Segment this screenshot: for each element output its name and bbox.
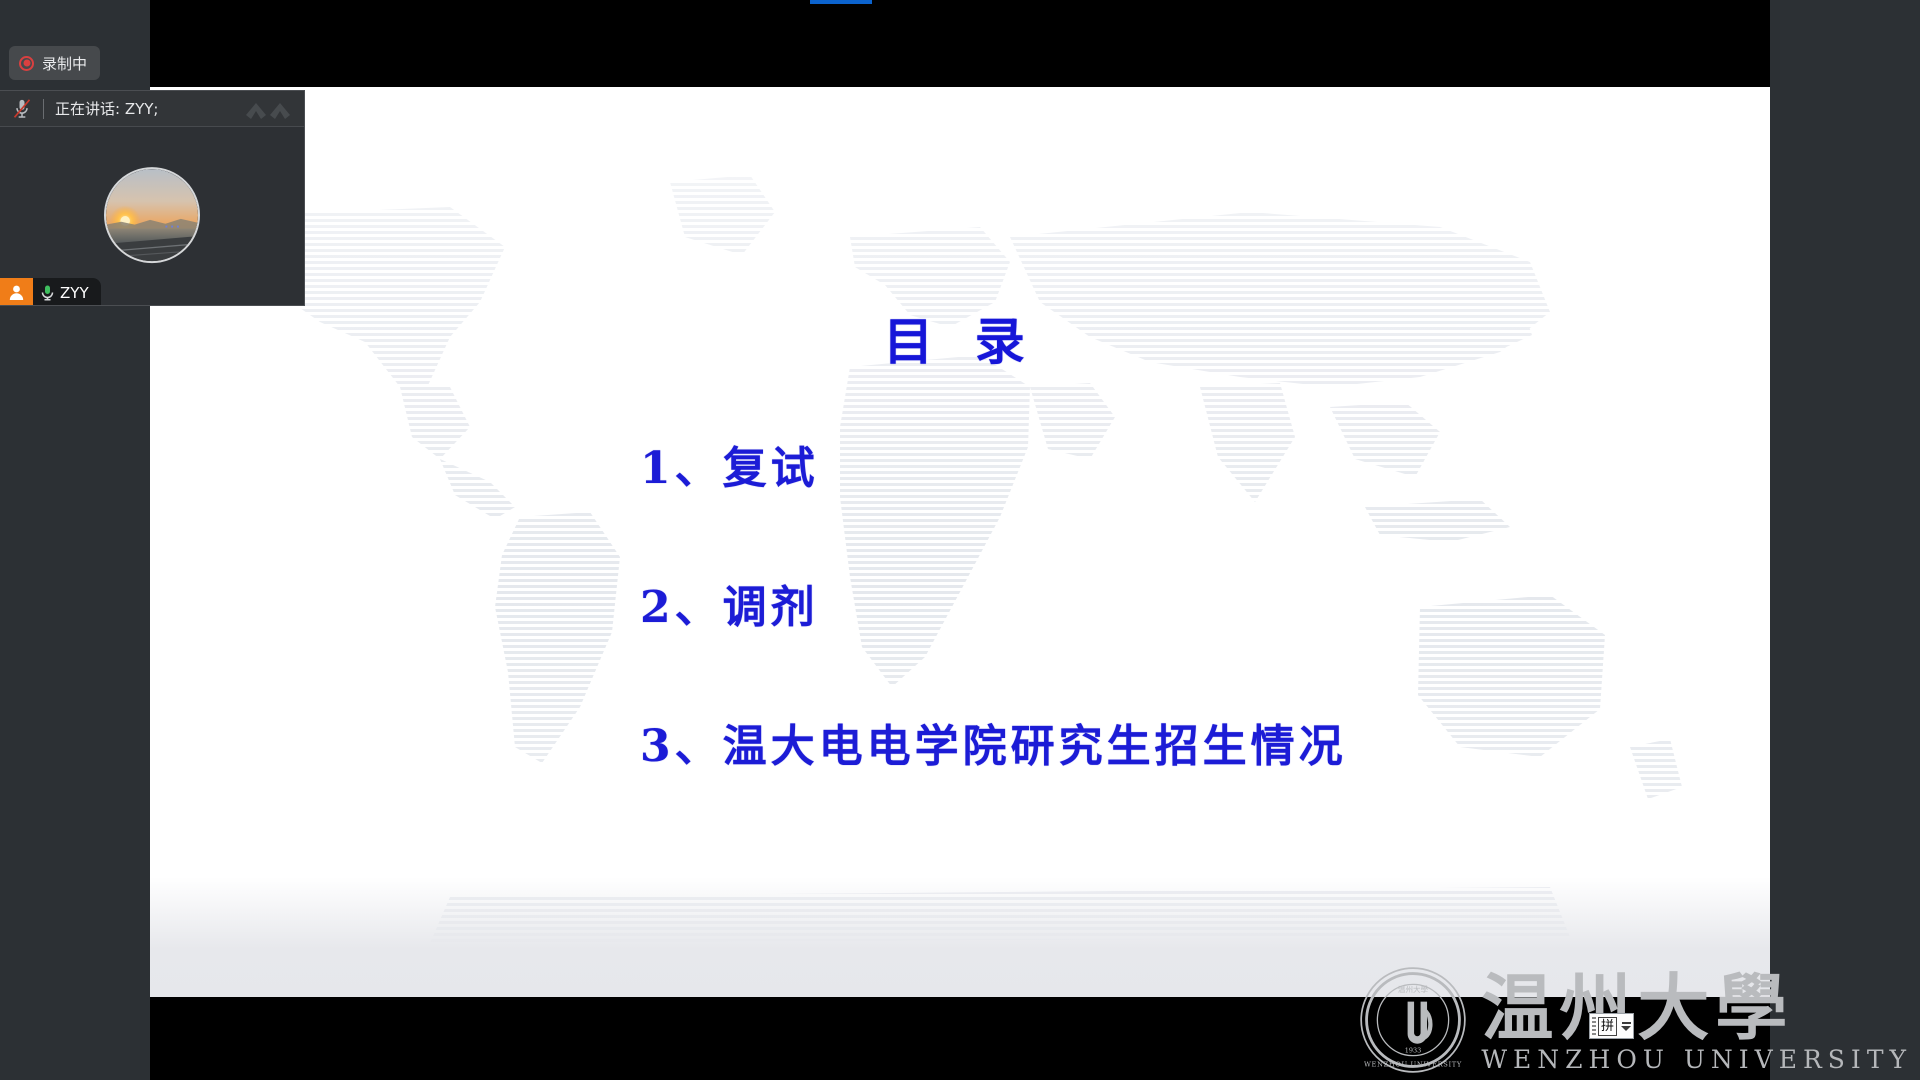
chevron-down-icon[interactable] (1621, 1026, 1631, 1031)
drag-handle-icon[interactable] (1592, 1017, 1596, 1035)
shared-screen-slide: 目 录 1、复试 2、调剂 3、温大电电学院研究生招生情况 (150, 87, 1770, 997)
record-dot-icon (19, 56, 34, 71)
microphone-active-icon (40, 284, 55, 301)
ime-language-bar[interactable]: 拼 (1589, 1013, 1634, 1039)
collapsed-toolbar-indicator[interactable] (810, 0, 872, 4)
screen-root: 目 录 1、复试 2、调剂 3、温大电电学院研究生招生情况 温州大學 1933 … (0, 0, 1920, 1080)
meeting-backdrop-right (1770, 0, 1920, 1080)
minimize-icon[interactable] (1622, 1022, 1631, 1024)
avatar (104, 167, 200, 263)
ime-mode-glyph[interactable]: 拼 (1598, 1017, 1617, 1036)
active-speaker-video-panel[interactable]: 正在讲话: ZYY; (0, 90, 305, 306)
toc-item-2: 2、调剂 (640, 571, 1740, 635)
participant-icon (0, 278, 33, 306)
recording-badge[interactable]: 录制中 (9, 46, 100, 80)
toc-item-3: 3、温大电电学院研究生招生情况 (640, 710, 1740, 774)
slide-bottom-band (150, 877, 1770, 997)
video-panel-header[interactable]: 正在讲话: ZYY; (0, 91, 304, 127)
toc-item-1: 1、复试 (640, 432, 1740, 496)
recording-label: 录制中 (42, 53, 87, 74)
header-divider (43, 99, 44, 119)
svg-text:WENZHOU UNIVERSITY: WENZHOU UNIVERSITY (1364, 1060, 1462, 1068)
participant-name: ZYY (60, 284, 89, 302)
microphone-muted-icon (12, 98, 32, 120)
table-of-contents: 1、复试 2、调剂 3、温大电电学院研究生招生情况 (640, 432, 1740, 774)
chevron-collapse-icon[interactable] (242, 97, 296, 123)
speaking-status-label: 正在讲话: ZYY; (55, 98, 158, 119)
slide-title: 目 录 (150, 302, 1770, 374)
video-panel-body: ZYY (0, 127, 304, 306)
svg-text:1933: 1933 (1405, 1046, 1421, 1054)
participant-name-tag: ZYY (0, 278, 101, 306)
